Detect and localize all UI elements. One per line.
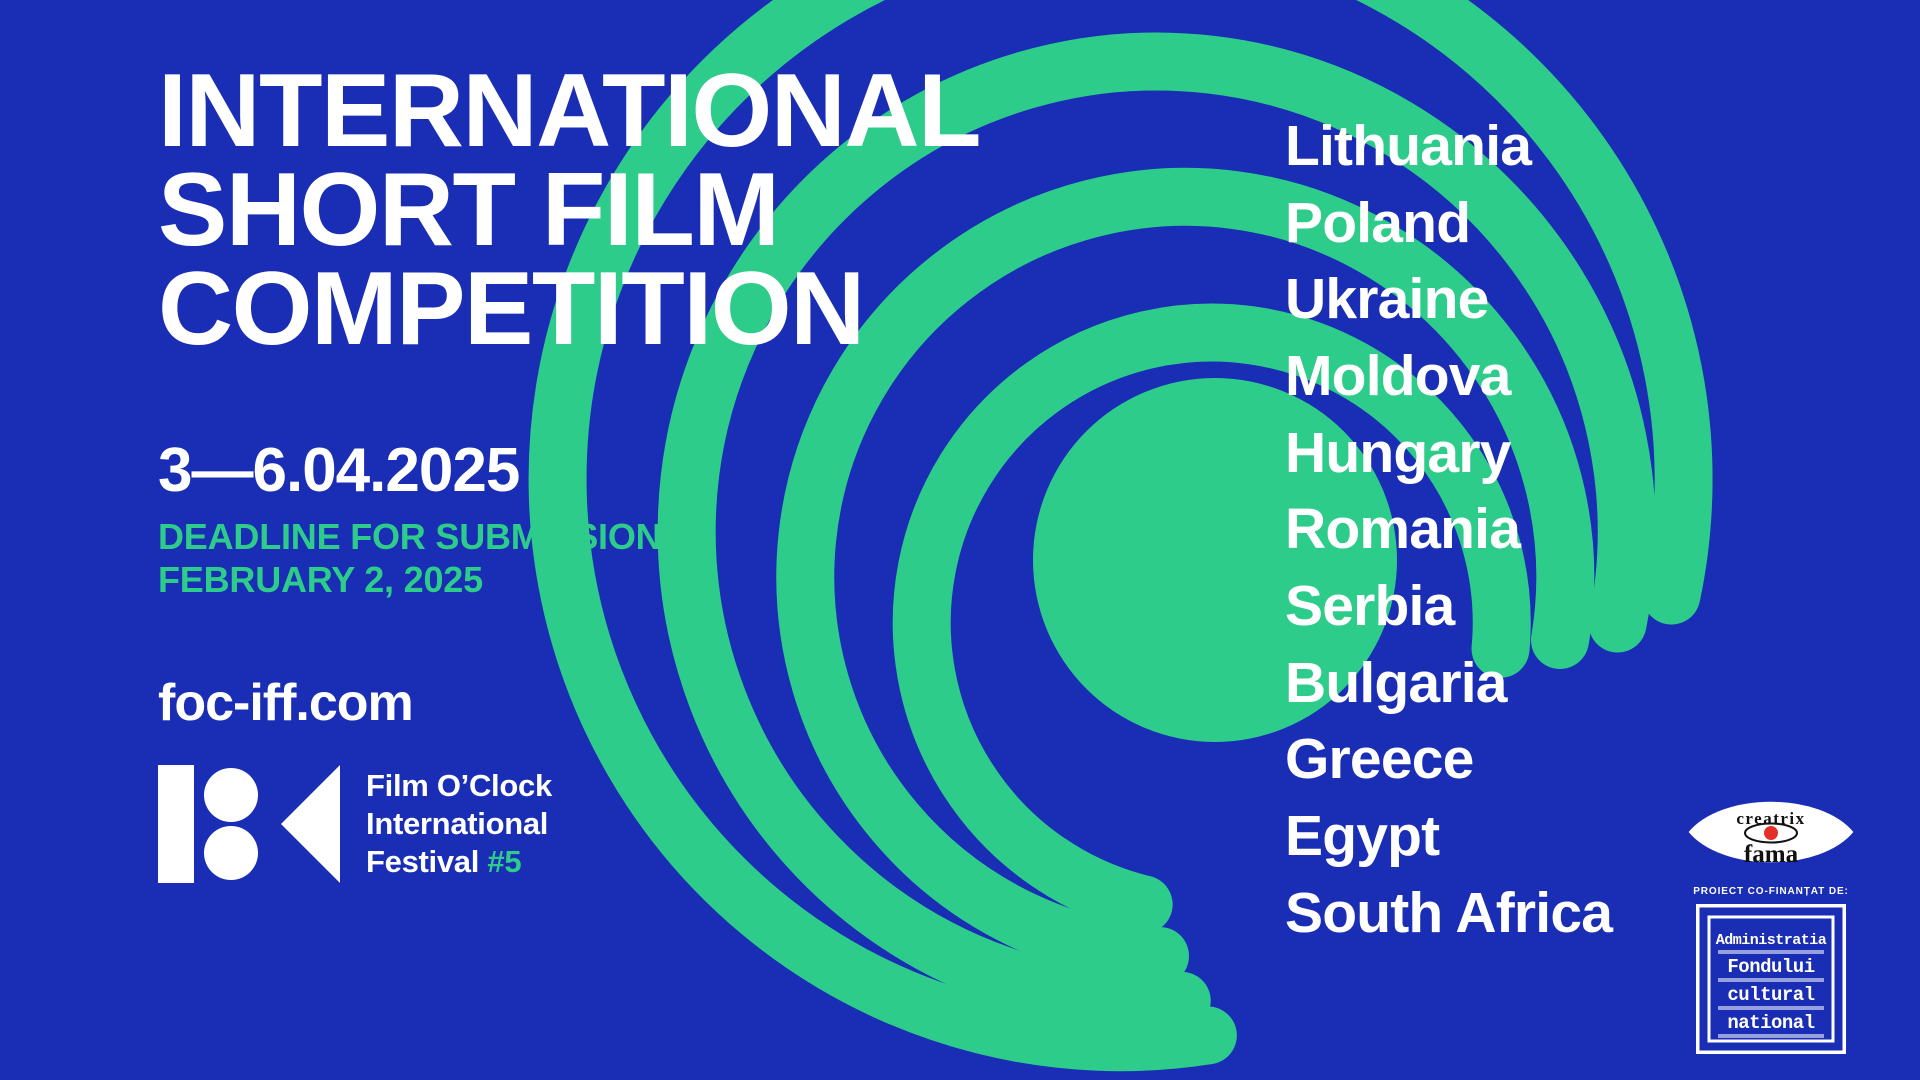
afcn-line-2: Fondului [1727,956,1814,978]
film-oclock-logo-icon [158,765,340,883]
afcn-line-1: Administratia [1716,932,1827,949]
poster-canvas: INTERNATIONAL SHORT FILM COMPETITION 3—6… [0,0,1920,1080]
list-item: Moldova [1285,338,1612,415]
festival-name-line-1: Film O’Clock [366,767,552,805]
festival-edition-number: #5 [487,844,521,879]
fama-text: fama [1744,841,1799,868]
list-item: Lithuania [1285,108,1612,185]
afcn-logo-icon: Administratia Fondului cultural national [1696,904,1846,1054]
afcn-line-4: national [1727,1012,1814,1034]
date-block: 3—6.04.2025 DEADLINE FOR SUBMISSIONS: FE… [158,440,1038,601]
festival-name-line-3: Festival #5 [366,843,552,881]
page-title: INTERNATIONAL SHORT FILM COMPETITION [158,62,1038,358]
left-content-column: INTERNATIONAL SHORT FILM COMPETITION 3—6… [158,62,1038,883]
submission-deadline: DEADLINE FOR SUBMISSIONS: FEBRUARY 2, 20… [158,516,1038,601]
festival-dates: 3—6.04.2025 [158,440,1038,502]
list-item: Bulgaria [1285,645,1612,722]
deadline-date: FEBRUARY 2, 2025 [158,559,1038,601]
list-item: Greece [1285,721,1612,798]
festival-logo-lockup[interactable]: Film O’Clock International Festival #5 [158,765,1038,883]
headline-line-2: SHORT FILM [158,161,1038,260]
festival-name-line-2: International [366,805,552,843]
list-item: Ukraine [1285,261,1612,338]
list-item: South Africa [1285,875,1612,952]
participating-countries-list: Lithuania Poland Ukraine Moldova Hungary… [1285,108,1612,951]
list-item: Egypt [1285,798,1612,875]
website-link[interactable]: foc-iff.com [158,677,1038,729]
festival-word: Festival [366,844,487,879]
creatrix-text: creatrix [1736,809,1805,828]
deadline-label: DEADLINE FOR SUBMISSIONS: [158,516,1038,558]
list-item: Romania [1285,491,1612,568]
list-item: Poland [1285,185,1612,262]
list-item: Serbia [1285,568,1612,645]
headline-line-3: COMPETITION [158,260,1038,359]
festival-name: Film O’Clock International Festival #5 [366,767,552,881]
sponsor-block: creatrix fama PROIECT CO-FINANȚAT DE: Ad… [1678,788,1864,1054]
cofinance-label: PROIECT CO-FINANȚAT DE: [1678,886,1864,897]
headline-line-1: INTERNATIONAL [158,62,1038,161]
creatrix-fama-eye-logo-icon: creatrix fama [1683,788,1859,876]
afcn-line-3: cultural [1727,984,1814,1006]
list-item: Hungary [1285,415,1612,492]
